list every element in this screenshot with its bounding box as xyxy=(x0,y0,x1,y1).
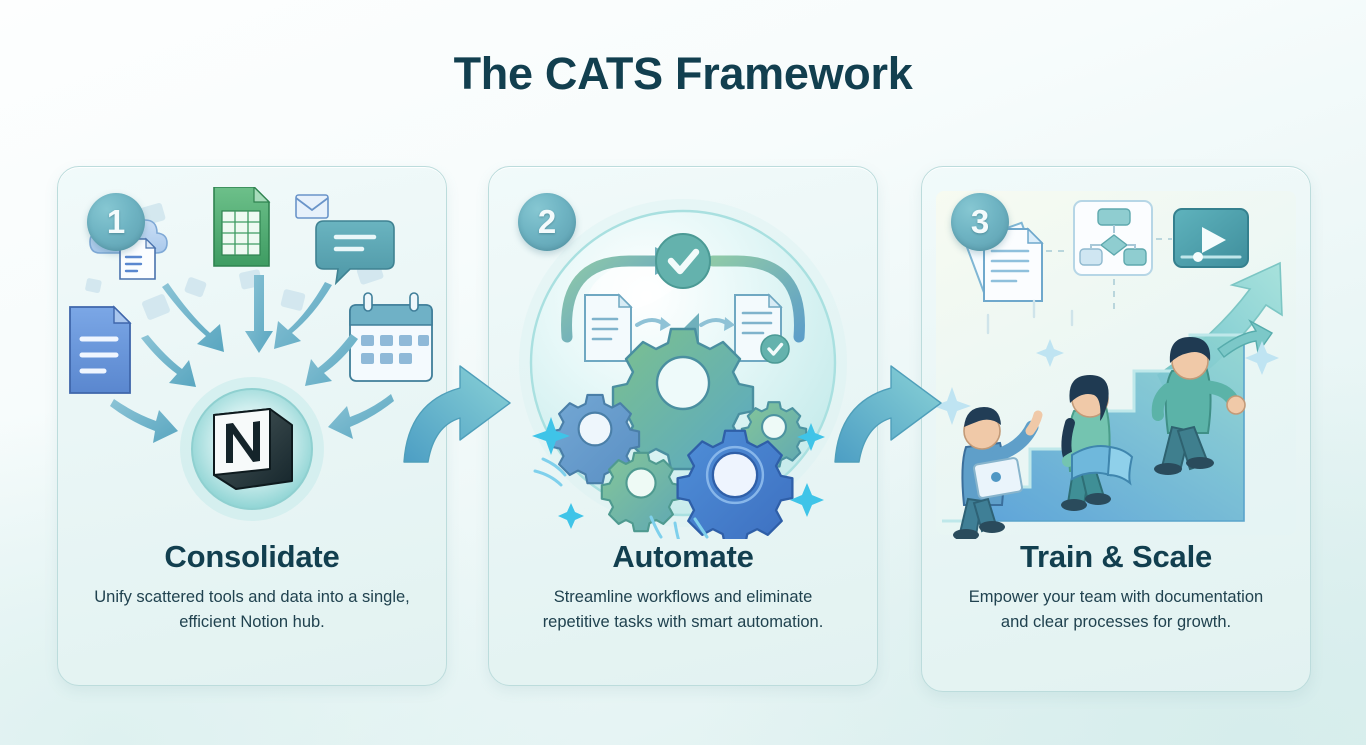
notion-logo-icon xyxy=(180,377,324,521)
step-number-badge-3: 3 xyxy=(951,193,1009,251)
arrow-step-1-to-2 xyxy=(398,358,516,466)
document-icon xyxy=(585,295,631,361)
step-card-train-and-scale[interactable]: 3 xyxy=(921,166,1311,692)
step-number-badge-2: 2 xyxy=(518,193,576,251)
infographic-canvas: The CATS Framework 1 xyxy=(0,0,1366,745)
spreadsheet-icon xyxy=(214,187,269,266)
page-title: The CATS Framework xyxy=(0,48,1366,100)
envelope-icon xyxy=(296,195,328,218)
step-number-badge-1: 1 xyxy=(87,193,145,251)
card-desc-3: Empower your team with documentation and… xyxy=(956,585,1276,635)
document-icon xyxy=(70,307,130,393)
arrow-step-2-to-3 xyxy=(829,358,947,466)
card-title-3: Train & Scale xyxy=(922,539,1310,575)
check-circle-icon xyxy=(656,234,710,288)
step-card-consolidate[interactable]: 1 xyxy=(57,166,447,686)
flowchart-icon xyxy=(1074,201,1152,275)
gear-icon xyxy=(602,453,680,531)
video-player-icon xyxy=(1174,209,1248,267)
card-desc-2: Streamline workflows and eliminate repet… xyxy=(523,585,843,635)
card-desc-1: Unify scattered tools and data into a si… xyxy=(92,585,412,635)
step-card-automate[interactable]: 2 xyxy=(488,166,878,686)
card-title-1: Consolidate xyxy=(58,539,446,575)
card-title-2: Automate xyxy=(489,539,877,575)
